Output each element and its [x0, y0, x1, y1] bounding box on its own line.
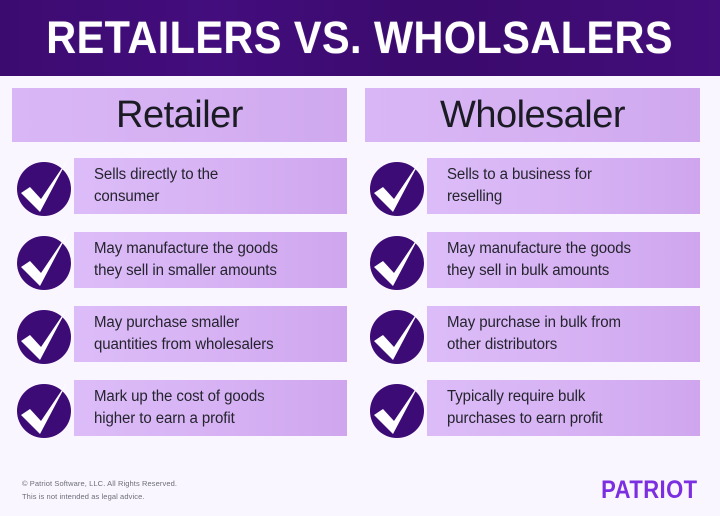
list-item: May purchase smaller quantities from who…	[12, 304, 347, 364]
patriot-logo: PATRIOT	[602, 478, 698, 503]
column-header-wholesaler: Wholesaler	[365, 88, 700, 142]
list-item-box: May manufacture the goods they sell in s…	[74, 232, 347, 288]
list-item-text: May manufacture the goods they sell in b…	[447, 238, 631, 283]
column-heading-label: Retailer	[116, 96, 243, 134]
list-item: Sells to a business for reselling	[365, 156, 700, 216]
check-circle-icon	[367, 304, 429, 366]
list-item-text: Sells to a business for reselling	[447, 164, 592, 209]
page-title: RETAILERS VS. WHOLSALERS	[47, 12, 674, 64]
list-item-box: May purchase smaller quantities from who…	[74, 306, 347, 362]
check-circle-icon	[14, 156, 76, 218]
list-item: Mark up the cost of goods higher to earn…	[12, 378, 347, 438]
footer: © Patriot Software, LLC. All Rights Rese…	[0, 464, 720, 516]
list-item-text: May manufacture the goods they sell in s…	[94, 238, 278, 283]
list-item: May purchase in bulk from other distribu…	[365, 304, 700, 364]
list-item-box: May purchase in bulk from other distribu…	[427, 306, 700, 362]
check-circle-icon	[367, 378, 429, 440]
list-item-text: Mark up the cost of goods higher to earn…	[94, 386, 265, 431]
list-item-box: Mark up the cost of goods higher to earn…	[74, 380, 347, 436]
column-heading-label: Wholesaler	[440, 96, 625, 134]
footer-legal: © Patriot Software, LLC. All Rights Rese…	[22, 480, 177, 500]
check-circle-icon	[367, 230, 429, 292]
column-retailer: Retailer Sells directly to the consumer …	[12, 88, 347, 452]
check-circle-icon	[367, 156, 429, 218]
list-item-box: Typically require bulk purchases to earn…	[427, 380, 700, 436]
header-banner: RETAILERS VS. WHOLSALERS	[0, 0, 720, 76]
comparison-content: Retailer Sells directly to the consumer …	[0, 76, 720, 452]
check-circle-icon	[14, 230, 76, 292]
list-item: May manufacture the goods they sell in b…	[365, 230, 700, 290]
check-circle-icon	[14, 378, 76, 440]
list-item: Sells directly to the consumer	[12, 156, 347, 216]
copyright-text: © Patriot Software, LLC. All Rights Rese…	[22, 480, 177, 488]
list-item-text: May purchase in bulk from other distribu…	[447, 312, 621, 357]
list-item: May manufacture the goods they sell in s…	[12, 230, 347, 290]
check-circle-icon	[14, 304, 76, 366]
disclaimer-text: This is not intended as legal advice.	[22, 493, 177, 501]
column-wholesaler: Wholesaler Sells to a business for resel…	[365, 88, 700, 452]
list-item: Typically require bulk purchases to earn…	[365, 378, 700, 438]
list-item-text: Sells directly to the consumer	[94, 164, 218, 209]
list-item-box: Sells to a business for reselling	[427, 158, 700, 214]
column-header-retailer: Retailer	[12, 88, 347, 142]
list-item-text: Typically require bulk purchases to earn…	[447, 386, 603, 431]
list-item-box: May manufacture the goods they sell in b…	[427, 232, 700, 288]
list-item-text: May purchase smaller quantities from who…	[94, 312, 274, 357]
list-item-box: Sells directly to the consumer	[74, 158, 347, 214]
